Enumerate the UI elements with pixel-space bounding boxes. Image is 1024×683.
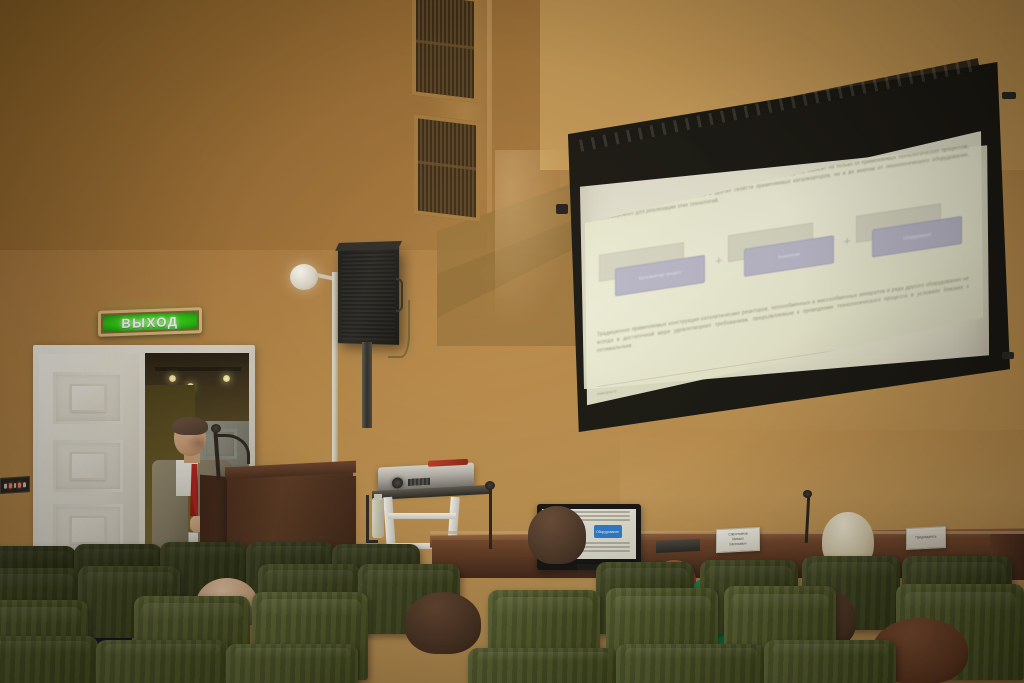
track-light-rail [155, 367, 241, 371]
screen-mount-right-top [1002, 92, 1016, 99]
door-leaf[interactable] [39, 354, 139, 554]
exit-sign: ВЫХОД [98, 307, 202, 337]
sphere-light-icon [290, 264, 318, 290]
ventilation-grille-icon [414, 114, 480, 222]
microphone-icon [485, 481, 495, 490]
auditorium-seat [0, 636, 98, 683]
microphone-icon [211, 424, 221, 433]
slide-diagram-node: Оборудование [854, 199, 969, 262]
auditorium-seat [226, 644, 358, 683]
projector-accent-strip [428, 459, 468, 467]
microphone-icon [803, 490, 812, 498]
slide-node-label: Оборудование [903, 232, 931, 242]
table-microphone-stem [489, 487, 492, 549]
name-place-card: Председатель [906, 526, 946, 550]
monitor-slide-node: Оборудование [594, 525, 622, 538]
ventilation-grille-icon [412, 0, 478, 103]
door-panel-inset [70, 384, 106, 412]
auditorium-seat [96, 640, 228, 683]
switch-indicator-lit [18, 482, 21, 487]
slide-url-text: www.ipcp.ru [597, 389, 616, 396]
laptop-lid [656, 539, 700, 553]
auditorium-seat [468, 648, 618, 683]
pa-speaker-stand [362, 342, 372, 428]
door-panel-inset [70, 452, 106, 480]
slide-diagram-node: Катализатор/ процесс [597, 238, 712, 301]
projector-vent [408, 478, 430, 486]
presenter-hair [172, 417, 208, 435]
auditorium-seat [616, 644, 766, 683]
audience-head-front-left [405, 592, 481, 654]
switch-indicator [4, 483, 7, 488]
pa-speaker-cable [388, 300, 410, 358]
plus-icon: + [715, 252, 723, 268]
trolley-rung [388, 513, 456, 519]
screen-mount-right-bottom [1002, 352, 1014, 359]
pa-speaker-top [335, 241, 402, 251]
switch-indicator [14, 482, 17, 487]
projection-screen: Эффективность переработки нефти и углево… [558, 62, 1010, 432]
exit-sign-face: ВЫХОД [103, 312, 197, 331]
track-light-icon [223, 375, 230, 382]
monitor-slide-node-label: Оборудование [596, 530, 619, 534]
bottle-cap [374, 494, 382, 500]
presenter-face-shadow [186, 434, 204, 452]
projector-lens-icon [392, 477, 403, 489]
door-panel-inset [70, 516, 106, 544]
bottle-label [372, 512, 384, 524]
slide-node-label: Катализатор/ процесс [639, 270, 681, 282]
switch-indicator-lit [9, 483, 12, 488]
slide-diagram-node: Технология [726, 219, 841, 282]
place-card-line: Евгеньевич [729, 542, 746, 547]
door-panel [53, 440, 123, 492]
track-light-icon [169, 375, 176, 382]
plus-icon: + [844, 232, 852, 248]
wall-switch-panel[interactable] [0, 476, 30, 494]
auditorium-seat [764, 640, 896, 683]
door-panel [53, 372, 123, 424]
auditorium-scene: ВЫХОД Эффективность переработки нефти и … [0, 0, 1024, 683]
exit-sign-label: ВЫХОД [121, 314, 178, 331]
slide-node-label: Технология [778, 252, 800, 261]
place-card-line: Председатель [915, 536, 936, 541]
vent-slats [416, 0, 474, 99]
screen-mount-left [556, 204, 568, 214]
name-place-card: Савостьянов Михаил Евгеньевич [716, 527, 760, 553]
audience-head-dark-at-monitor [528, 506, 586, 564]
switch-indicator [23, 482, 26, 487]
